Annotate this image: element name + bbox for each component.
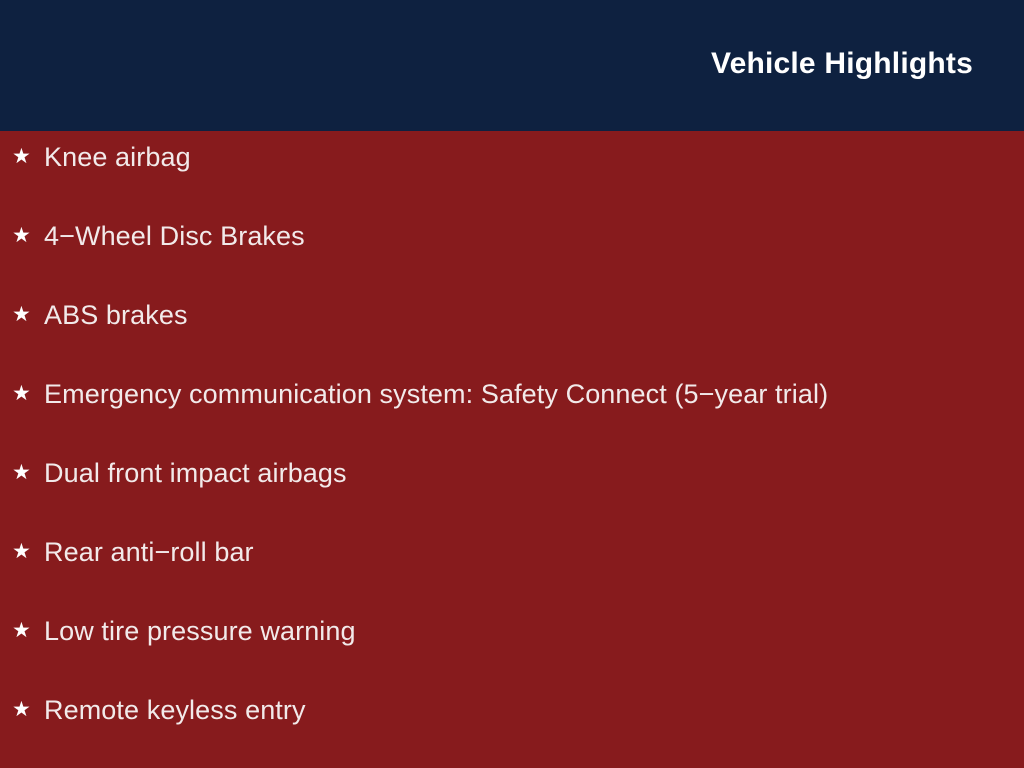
highlight-label: ABS brakes <box>44 302 188 329</box>
star-icon: ★ <box>12 462 44 483</box>
vehicle-highlights-list: ★ Knee airbag ★ 4−Wheel Disc Brakes ★ AB… <box>0 144 1024 768</box>
slide-header: Vehicle Highlights <box>0 0 1024 131</box>
highlight-label: Emergency communication system: Safety C… <box>44 381 828 408</box>
star-icon: ★ <box>12 383 44 404</box>
highlight-label: Low tire pressure warning <box>44 618 356 645</box>
list-item: ★ Dual front impact airbags <box>0 460 1024 539</box>
highlight-label: Knee airbag <box>44 144 191 171</box>
star-icon: ★ <box>12 541 44 562</box>
star-icon: ★ <box>12 699 44 720</box>
page-title: Vehicle Highlights <box>711 49 973 79</box>
list-item: ★ Knee airbag <box>0 144 1024 223</box>
star-icon: ★ <box>12 620 44 641</box>
slide-root: Vehicle Highlights ★ Knee airbag ★ 4−Whe… <box>0 0 1024 768</box>
list-item: ★ Remote keyless entry <box>0 697 1024 768</box>
highlight-label: Rear anti−roll bar <box>44 539 254 566</box>
list-item: ★ ABS brakes <box>0 302 1024 381</box>
slide-body: ★ Knee airbag ★ 4−Wheel Disc Brakes ★ AB… <box>0 131 1024 768</box>
highlight-label: Dual front impact airbags <box>44 460 347 487</box>
star-icon: ★ <box>12 225 44 246</box>
highlight-label: Remote keyless entry <box>44 697 306 724</box>
list-item: ★ Emergency communication system: Safety… <box>0 381 1024 460</box>
highlight-label: 4−Wheel Disc Brakes <box>44 223 305 250</box>
star-icon: ★ <box>12 146 44 167</box>
list-item: ★ Low tire pressure warning <box>0 618 1024 697</box>
star-icon: ★ <box>12 304 44 325</box>
list-item: ★ Rear anti−roll bar <box>0 539 1024 618</box>
list-item: ★ 4−Wheel Disc Brakes <box>0 223 1024 302</box>
